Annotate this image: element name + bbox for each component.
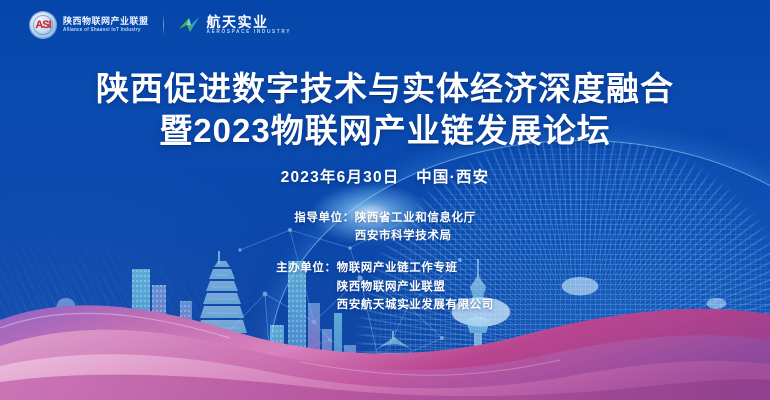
organizer-section: 指导单位： 陕西省工业和信息化厅 西安市科学技术局 主办单位： 物联网产业链工作…: [0, 209, 770, 314]
guidance-units-block: 指导单位： 陕西省工业和信息化厅 西安市科学技术局: [294, 209, 476, 245]
list-item: 陕西省工业和信息化厅: [355, 209, 476, 227]
conference-banner: ASI 陕西物联网产业联盟 Alliance of Shaanxi IoT In…: [0, 0, 770, 400]
host-units-block: 主办单位： 物联网产业链工作专班 陕西物联网产业联盟 西安航天城实业发展有限公司: [276, 259, 494, 313]
list-item: 西安航天城实业发展有限公司: [337, 296, 494, 314]
banner-title: 陕西促进数字技术与实体经济深度融合 暨2023物联网产业链发展论坛: [0, 68, 770, 151]
date-location-line: 2023年6月30日 中国·西安: [0, 165, 770, 187]
list-item: 陕西物联网产业联盟: [337, 278, 494, 296]
guidance-units-list: 陕西省工业和信息化厅 西安市科学技术局: [355, 209, 476, 245]
host-units-list: 物联网产业链工作专班 陕西物联网产业联盟 西安航天城实业发展有限公司: [337, 259, 494, 313]
list-item: 西安市科学技术局: [355, 227, 476, 245]
title-line-2: 暨2023物联网产业链发展论坛: [0, 110, 770, 152]
banner-copy: 陕西促进数字技术与实体经济深度融合 暨2023物联网产业链发展论坛 2023年6…: [0, 0, 770, 314]
list-item: 物联网产业链工作专班: [337, 259, 494, 277]
title-line-1: 陕西促进数字技术与实体经济深度融合: [0, 68, 770, 110]
host-units-label: 主办单位：: [276, 259, 337, 277]
guidance-units-label: 指导单位：: [294, 209, 355, 227]
